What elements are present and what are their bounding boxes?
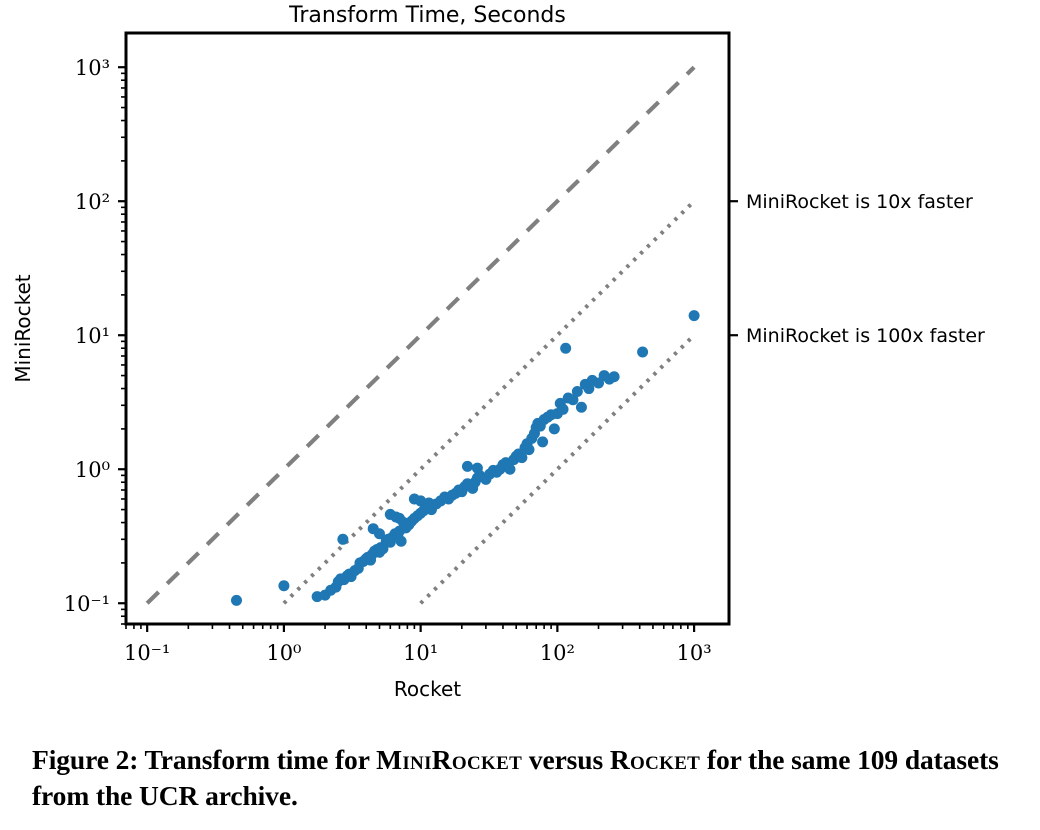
scatter-point: [523, 444, 534, 455]
x-tick-label: 10²: [540, 641, 575, 665]
x-tick-label: 10¹: [403, 641, 438, 665]
chart-title: Transform Time, Seconds: [288, 3, 566, 28]
y-tick-label: 10²: [75, 190, 110, 214]
x-tick-label: 10⁻¹: [124, 641, 170, 665]
y-tick-label: 10¹: [75, 324, 110, 348]
plot-area: [147, 67, 699, 606]
scatter-point: [231, 595, 242, 606]
annotation-label: MiniRocket is 10x faster: [746, 191, 973, 213]
scatter-point: [504, 464, 515, 475]
scatter-point: [560, 343, 571, 354]
figure-container: Transform Time, Seconds10⁻¹10⁰10¹10²10³1…: [0, 0, 1040, 720]
hundred-x-faster-line: [421, 335, 694, 603]
scatter-point: [396, 536, 407, 547]
axis-ticks: 10⁻¹10⁰10¹10²10³10⁻¹10⁰10¹10²10³MiniRock…: [64, 56, 985, 665]
scatter-point: [472, 463, 483, 474]
x-axis-label: Rocket: [394, 677, 461, 701]
annotation-label: MiniRocket is 100x faster: [746, 325, 985, 347]
scatter-point: [576, 402, 587, 413]
scatter-point: [337, 534, 348, 545]
y-tick-label: 10⁰: [75, 458, 110, 482]
x-tick-label: 10³: [677, 641, 712, 665]
scatter-point: [537, 436, 548, 447]
scatter-point: [637, 346, 648, 357]
x-tick-label: 10⁰: [266, 641, 301, 665]
caption-rocket: Rocket: [610, 744, 700, 775]
scatter-point: [609, 371, 620, 382]
equal-time-line: [147, 67, 694, 603]
caption-prefix: Figure 2: Transform time for: [32, 744, 376, 775]
y-tick-label: 10⁻¹: [64, 592, 110, 616]
scatter-point: [462, 461, 473, 472]
y-tick-label: 10³: [75, 56, 110, 80]
scatter-point: [558, 404, 569, 415]
caption-minirocket: MiniRocket: [376, 744, 522, 775]
caption-mid: versus: [522, 744, 610, 775]
y-axis-label: MiniRocket: [11, 274, 35, 382]
scatter-point: [549, 423, 560, 434]
transform-time-scatter-chart: Transform Time, Seconds10⁻¹10⁰10¹10²10³1…: [0, 0, 1040, 720]
scatter-point: [689, 310, 700, 321]
figure-caption: Figure 2: Transform time for MiniRocket …: [32, 742, 1022, 815]
scatter-point: [278, 580, 289, 591]
scatter-series: [231, 310, 700, 606]
